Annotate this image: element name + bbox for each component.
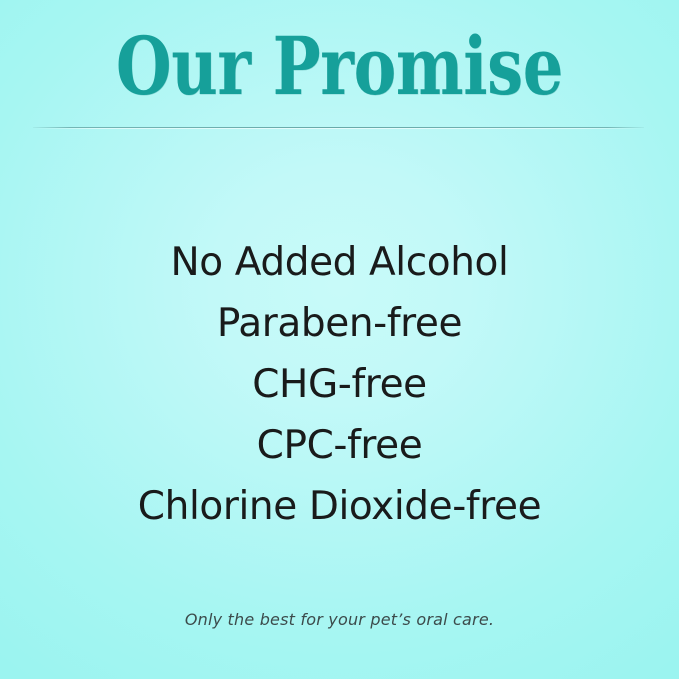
page-title-text: Our Promise bbox=[116, 26, 563, 106]
page-title: Our Promise bbox=[0, 26, 679, 106]
promise-list: No Added Alcohol Paraben-free CHG-free C… bbox=[0, 232, 679, 537]
promise-poster: Our Promise No Added Alcohol Paraben-fre… bbox=[0, 0, 679, 679]
promise-item-paraben-free: Paraben-free bbox=[0, 293, 679, 354]
title-divider bbox=[33, 127, 644, 130]
promise-item-chg-free: CHG-free bbox=[0, 354, 679, 415]
promise-item-cpc-free: CPC-free bbox=[0, 415, 679, 476]
title-divider-highlight bbox=[33, 128, 644, 129]
footer-tagline: Only the best for your pet’s oral care. bbox=[0, 610, 679, 629]
promise-item-no-added-alcohol: No Added Alcohol bbox=[0, 232, 679, 293]
promise-item-chlorine-dioxide-free: Chlorine Dioxide-free bbox=[0, 476, 679, 537]
